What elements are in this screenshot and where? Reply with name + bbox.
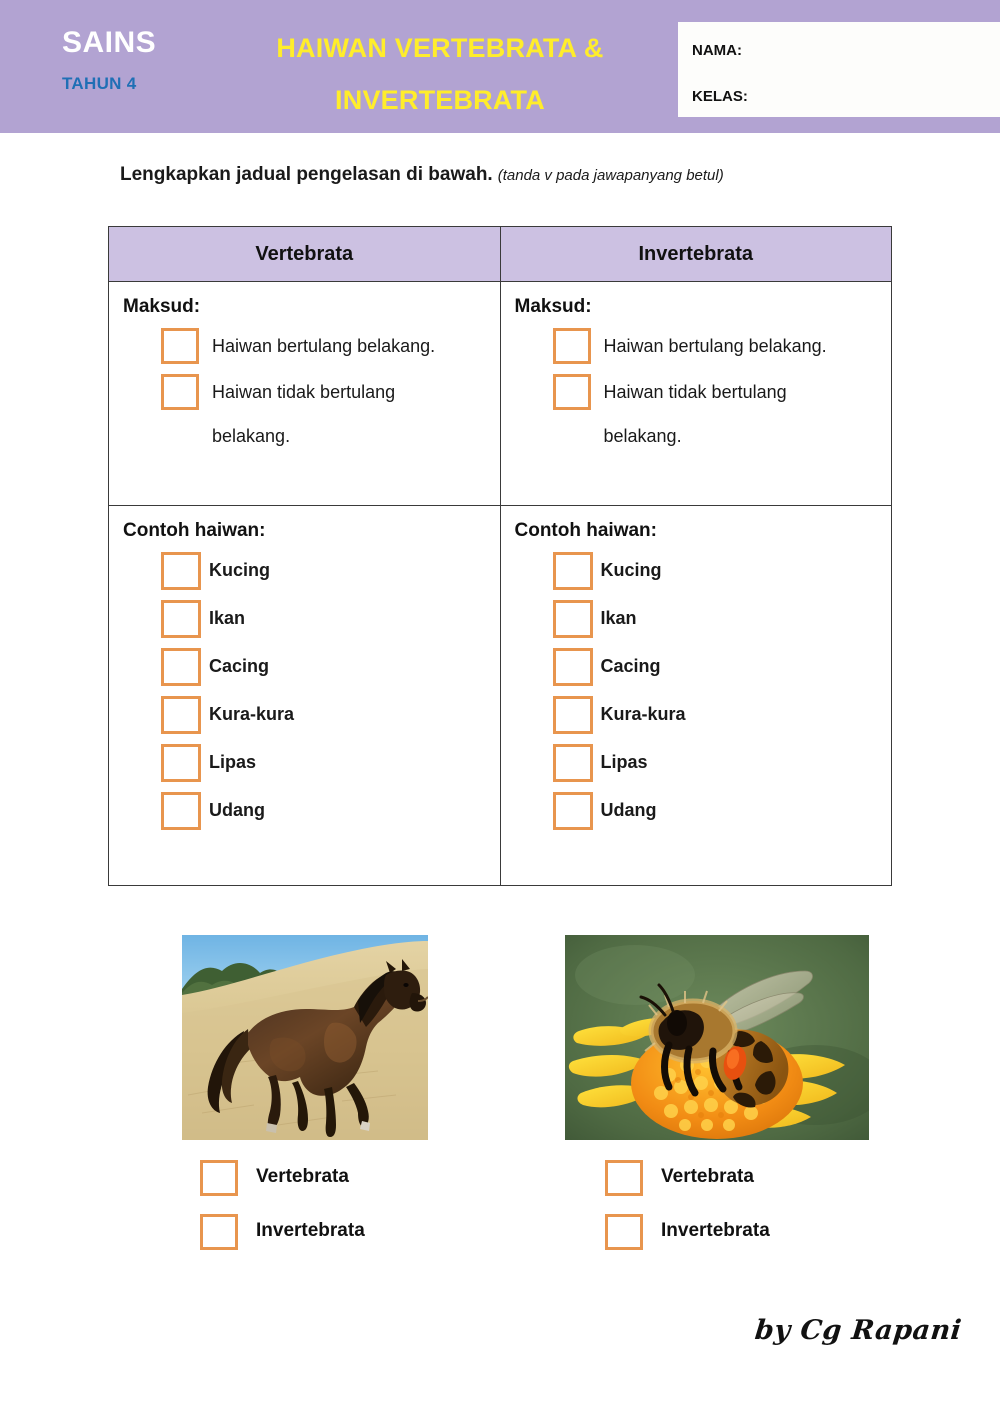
contoh-option-label: Kucing [601,550,662,590]
instruction-hint: (tanda v pada jawapanyang betul) [498,167,724,184]
contoh-option-left-3[interactable]: Kura-kura [161,694,500,734]
class-field-label[interactable]: KELAS: [692,86,1000,108]
checkbox-icon[interactable] [161,328,199,364]
horse-photo [182,935,428,1140]
maksud-option-label: Haiwan bertulang belakang. [604,326,827,366]
contoh-option-right-5[interactable]: Udang [553,790,892,830]
checkbox-icon[interactable] [553,328,591,364]
contoh-option-left-4[interactable]: Lipas [161,742,500,782]
contoh-option-label: Cacing [209,646,269,686]
contoh-option-label: Kucing [209,550,270,590]
answer-option-label: Vertebrata [256,1166,349,1188]
checkbox-icon[interactable] [553,696,593,734]
instruction-main: Lengkapkan jadual pengelasan di bawah. [120,164,493,185]
bee-photo [565,935,869,1140]
checkbox-icon[interactable] [553,792,593,830]
contoh-option-label: Udang [601,790,657,830]
checkbox-icon[interactable] [161,374,199,410]
maksud-option-right-1[interactable]: Haiwan tidak bertulang [553,372,892,412]
maksud-option-left-1[interactable]: Haiwan tidak bertulang [161,372,500,412]
instruction-text: Lengkapkan jadual pengelasan di bawah.(t… [120,164,920,186]
contoh-option-left-5[interactable]: Udang [161,790,500,830]
checkbox-icon[interactable] [553,744,593,782]
answer-option-label: Invertebrata [256,1220,365,1242]
maksud-heading-right: Maksud: [515,296,892,318]
checkbox-icon[interactable] [161,600,201,638]
cell-maksud-invertebrata: Maksud: Haiwan bertulang belakang. Haiwa… [500,282,892,506]
maksud-option-label: Haiwan tidak bertulang [212,372,395,412]
checkbox-icon[interactable] [200,1214,238,1250]
maksud-option-right-1-wrap: belakang. [604,420,892,452]
checkbox-icon[interactable] [553,648,593,686]
answer-option-label: Vertebrata [661,1166,754,1188]
maksud-option-label: Haiwan tidak bertulang [604,372,787,412]
checkbox-icon[interactable] [553,552,593,590]
contoh-option-left-0[interactable]: Kucing [161,550,500,590]
maksud-option-right-0[interactable]: Haiwan bertulang belakang. [553,326,892,366]
checkbox-icon[interactable] [553,374,591,410]
checkbox-icon[interactable] [200,1160,238,1196]
header-band: SAINS TAHUN 4 HAIWAN VERTEBRATA & INVERT… [0,0,1000,133]
contoh-option-label: Lipas [601,742,648,782]
maksud-heading-left: Maksud: [123,296,500,318]
subject-year: TAHUN 4 [62,70,242,98]
checkbox-icon[interactable] [161,696,201,734]
cell-maksud-vertebrata: Maksud: Haiwan bertulang belakang. Haiwa… [109,282,501,506]
checkbox-icon[interactable] [161,792,201,830]
worksheet-title-line1: HAIWAN VERTEBRATA & [240,22,640,74]
contoh-option-right-3[interactable]: Kura-kura [553,694,892,734]
contoh-option-label: Kura-kura [209,694,294,734]
answer-group-left: Vertebrata Invertebrata [200,1158,530,1266]
contoh-option-left-1[interactable]: Ikan [161,598,500,638]
checkbox-icon[interactable] [161,552,201,590]
worksheet-page: SAINS TAHUN 4 HAIWAN VERTEBRATA & INVERT… [0,0,1000,1413]
contoh-option-label: Ikan [209,598,245,638]
maksud-option-left-0[interactable]: Haiwan bertulang belakang. [161,326,500,366]
answer-group-right: Vertebrata Invertebrata [605,1158,935,1266]
checkbox-icon[interactable] [605,1160,643,1196]
contoh-option-right-0[interactable]: Kucing [553,550,892,590]
column-header-invertebrata: Invertebrata [500,227,892,282]
column-header-vertebrata: Vertebrata [109,227,501,282]
author-credit: by Cg Rapani [754,1315,964,1346]
table-row-maksud: Maksud: Haiwan bertulang belakang. Haiwa… [109,282,892,506]
checkbox-icon[interactable] [553,600,593,638]
contoh-option-label: Cacing [601,646,661,686]
checkbox-icon[interactable] [161,648,201,686]
student-info-box: NAMA: KELAS: [678,22,1000,117]
contoh-option-label: Udang [209,790,265,830]
contoh-option-right-4[interactable]: Lipas [553,742,892,782]
cell-contoh-vertebrata: Contoh haiwan: Kucing Ikan Cacing [109,506,501,886]
name-field-label[interactable]: NAMA: [692,40,1000,62]
checkbox-icon[interactable] [161,744,201,782]
answer-right-option-0[interactable]: Vertebrata [605,1158,935,1196]
answer-option-label: Invertebrata [661,1220,770,1242]
worksheet-title-line2: INVERTEBRATA [240,74,640,126]
contoh-option-right-2[interactable]: Cacing [553,646,892,686]
maksud-option-left-1-wrap: belakang. [212,420,500,452]
subject-block: SAINS TAHUN 4 [62,24,242,98]
answer-left-option-0[interactable]: Vertebrata [200,1158,530,1196]
answer-right-option-1[interactable]: Invertebrata [605,1212,935,1250]
maksud-option-label: Haiwan bertulang belakang. [212,326,435,366]
answer-left-option-1[interactable]: Invertebrata [200,1212,530,1250]
worksheet-title: HAIWAN VERTEBRATA & INVERTEBRATA [240,22,640,126]
cell-contoh-invertebrata: Contoh haiwan: Kucing Ikan Cacing [500,506,892,886]
checkbox-icon[interactable] [605,1214,643,1250]
subject-title: SAINS [62,24,242,62]
contoh-option-label: Ikan [601,598,637,638]
contoh-heading-left: Contoh haiwan: [123,520,500,542]
contoh-option-label: Kura-kura [601,694,686,734]
table-row-contoh: Contoh haiwan: Kucing Ikan Cacing [109,506,892,886]
table-header-row: Vertebrata Invertebrata [109,227,892,282]
classification-table: Vertebrata Invertebrata Maksud: Haiwan b… [108,226,892,886]
contoh-option-label: Lipas [209,742,256,782]
contoh-option-right-1[interactable]: Ikan [553,598,892,638]
contoh-heading-right: Contoh haiwan: [515,520,892,542]
contoh-option-left-2[interactable]: Cacing [161,646,500,686]
